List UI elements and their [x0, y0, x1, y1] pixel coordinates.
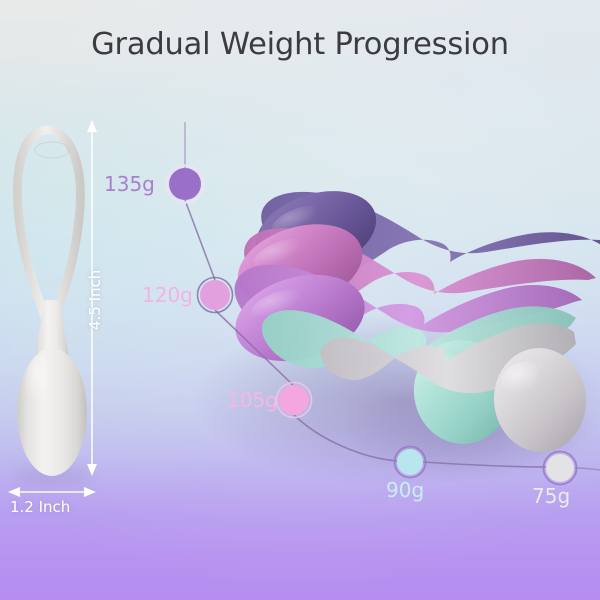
weight-label-75g: 75g [532, 484, 570, 508]
width-dimension-arrow [8, 487, 96, 497]
marker-dot-105g[interactable] [277, 383, 312, 418]
weight-label-120g: 120g [142, 283, 193, 307]
infographic-canvas: Gradual Weight Progression [0, 0, 600, 600]
weight-label-105g: 105g [227, 388, 278, 412]
weight-label-135g: 135g [104, 172, 155, 196]
weight-label-90g: 90g [386, 478, 424, 502]
marker-dot-90g[interactable] [395, 447, 426, 478]
marker-dot-75g[interactable] [544, 452, 577, 485]
height-dimension-label: 4.5 Inch [86, 270, 104, 330]
width-dimension-label: 1.2 Inch [10, 498, 70, 516]
progression-curve-tail [575, 468, 600, 470]
marker-dot-135g[interactable] [167, 166, 204, 203]
progression-curve [185, 200, 546, 467]
marker-dot-120g[interactable] [198, 278, 233, 313]
